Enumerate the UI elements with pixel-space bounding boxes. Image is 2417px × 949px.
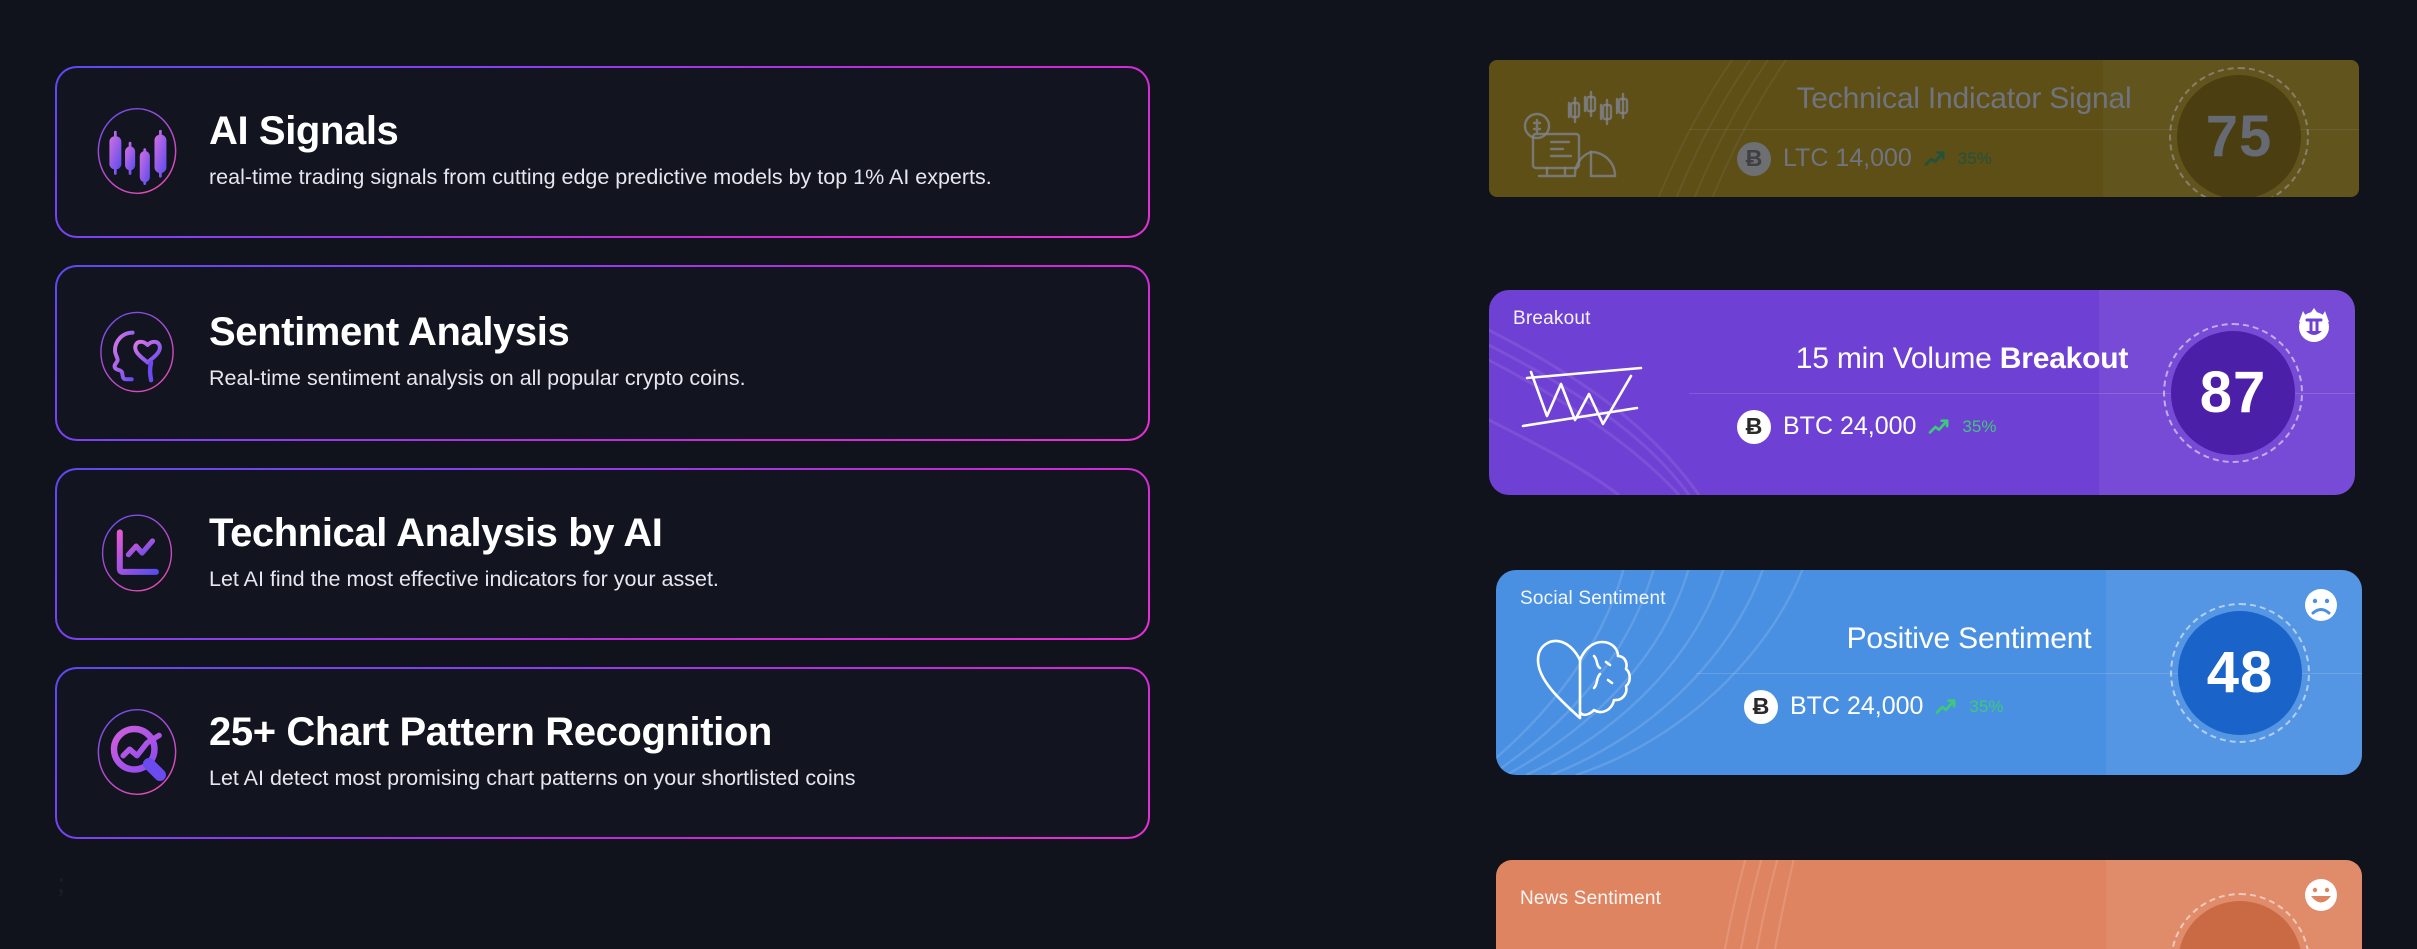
feature-card-chart-pattern-recognition[interactable]: 25+ Chart Pattern Recognition Let AI det… [55,667,1150,839]
signal-card-list: Technical Indicator Signal Ƀ LTC 14,000 … [1489,0,2369,949]
signal-tag: Social Sentiment [1520,588,1708,610]
signal-tag: News Sentiment [1520,888,1708,910]
grinning-face-icon [2300,874,2342,916]
change-percent: 35% [1962,417,1996,437]
score-value: 48 [2207,644,2274,702]
signal-tag: Breakout [1513,308,1701,330]
signal-headline-plain: Technical Indicator Signal [1797,82,2132,115]
monitor-pie-candles-icon [1513,82,1663,192]
page-root: AI Signals real-time trading signals fro… [0,0,2417,949]
signal-card-volume-breakout[interactable]: Breakout 15 min Volume Breakout [1489,290,2355,495]
score-value: 87 [2200,364,2267,422]
feature-description: Let AI detect most promising chart patte… [209,764,1079,794]
feature-title: AI Signals [209,109,1108,153]
trend-up-icon [1928,418,1950,436]
signal-score-badge: 87 [2171,331,2295,455]
feature-description: real-time trading signals from cutting e… [209,163,1079,193]
descending-wedge-pattern-icon [1513,342,1663,452]
change-percent: 35% [1969,697,2003,717]
head-heart-icon [91,299,183,405]
star-struck-face-icon [2293,304,2335,346]
feature-card-list: AI Signals real-time trading signals fro… [55,66,1150,866]
signal-score-badge: 48 [2178,611,2302,735]
score-value: 75 [2206,108,2273,166]
signal-headline-plain: 15 min Volume [1796,342,2000,375]
coin-pair-value: BTC 24,000 [1790,692,1923,721]
feature-card-technical-analysis[interactable]: Technical Analysis by AI Let AI find the… [55,468,1150,640]
feature-title: 25+ Chart Pattern Recognition [209,710,1108,754]
decorative-glyph: ; [57,866,65,900]
change-percent: 35% [1958,149,1992,169]
bitcoin-coin-icon: Ƀ [1737,142,1771,176]
bitcoin-coin-icon: Ƀ [1744,690,1778,724]
magnifier-chart-icon [91,699,183,805]
sad-face-icon [2300,584,2342,626]
feature-description: Let AI find the most effective indicator… [209,565,1079,595]
signal-card-technical-indicator[interactable]: Technical Indicator Signal Ƀ LTC 14,000 … [1489,60,2359,197]
signal-card-positive-sentiment[interactable]: Social Sentiment Positive Sentiment [1496,570,2362,775]
signal-score-badge [2178,901,2302,949]
feature-description: Real-time sentiment analysis on all popu… [209,364,1079,394]
signal-score-badge: 75 [2177,75,2301,197]
signal-card-news-sentiment[interactable]: News Sentiment [1496,860,2362,949]
feature-title: Sentiment Analysis [209,310,1108,354]
heart-brain-icon [1520,622,1670,732]
coin-pair-value: BTC 24,000 [1783,412,1916,441]
coin-pair-value: LTC 14,000 [1783,144,1912,173]
line-chart-axis-icon [91,500,183,606]
trend-up-icon [1935,698,1957,716]
feature-card-ai-signals[interactable]: AI Signals real-time trading signals fro… [55,66,1150,238]
signal-headline-bold: Breakout [2000,342,2128,375]
signal-headline-plain: Positive Sentiment [1847,622,2092,655]
trend-up-icon [1924,150,1946,168]
bitcoin-coin-icon: Ƀ [1737,410,1771,444]
candlestick-chart-icon [91,98,183,204]
feature-title: Technical Analysis by AI [209,511,1108,555]
feature-card-sentiment-analysis[interactable]: Sentiment Analysis Real-time sentiment a… [55,265,1150,441]
